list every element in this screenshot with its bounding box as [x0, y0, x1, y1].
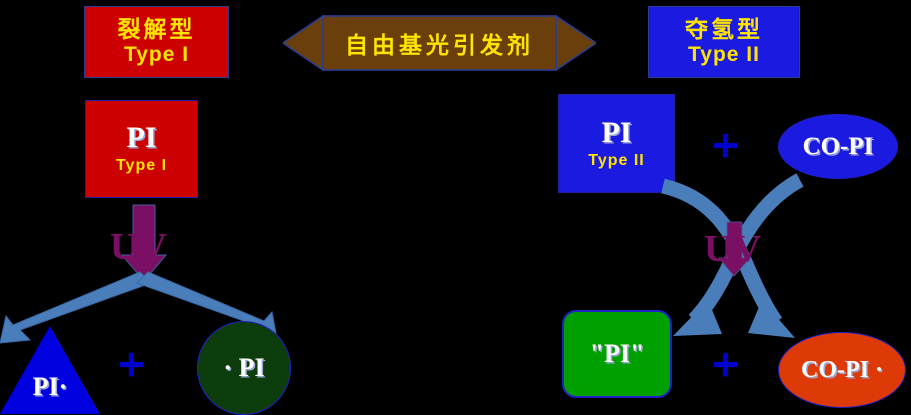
right-branch-header: 夺氢型 Type II [648, 6, 800, 78]
right-product-orange-label: CO-PI · [801, 357, 883, 384]
left-pi-type-label: Type I [116, 157, 167, 175]
left-product-triangle: PI· [0, 326, 100, 414]
right-pi-type-label: Type II [588, 152, 645, 170]
right-pi-source-box: PI Type II [558, 94, 675, 193]
left-pi-label: PI [127, 123, 157, 153]
right-header-cn: 夺氢型 [685, 18, 763, 42]
left-pi-source-box: PI Type I [85, 100, 198, 198]
left-header-cn: 裂解型 [118, 18, 196, 42]
right-header-en: Type II [688, 44, 760, 66]
left-header-en: Type I [124, 44, 189, 66]
coinitiator-ellipse: CO-PI [778, 114, 898, 179]
right-pi-label: PI [602, 118, 632, 148]
center-banner: 自由基光引发剂 [283, 8, 596, 78]
left-plus-sign: + [118, 341, 145, 387]
left-branch-header: 裂解型 Type I [84, 6, 229, 78]
banner-label: 自由基光引发剂 [283, 8, 596, 78]
right-uv-label: UV [704, 230, 763, 268]
right-product-orange-ellipse: CO-PI · [778, 332, 906, 408]
diagram-canvas: 裂解型 Type I 自由基光引发剂 夺氢型 Type II PI Type I… [0, 0, 911, 414]
right-top-plus-sign: + [712, 122, 739, 168]
left-uv-label: UV [110, 228, 169, 266]
right-bottom-plus-sign: + [712, 341, 739, 387]
left-product-circle: · PI [197, 321, 291, 415]
right-product-green-label: "PI" [590, 339, 645, 369]
left-product-triangle-label: PI· [0, 372, 100, 402]
coinitiator-label: CO-PI [803, 133, 874, 161]
right-product-green-box: "PI" [562, 310, 672, 398]
left-product-circle-label: · PI [223, 353, 264, 383]
